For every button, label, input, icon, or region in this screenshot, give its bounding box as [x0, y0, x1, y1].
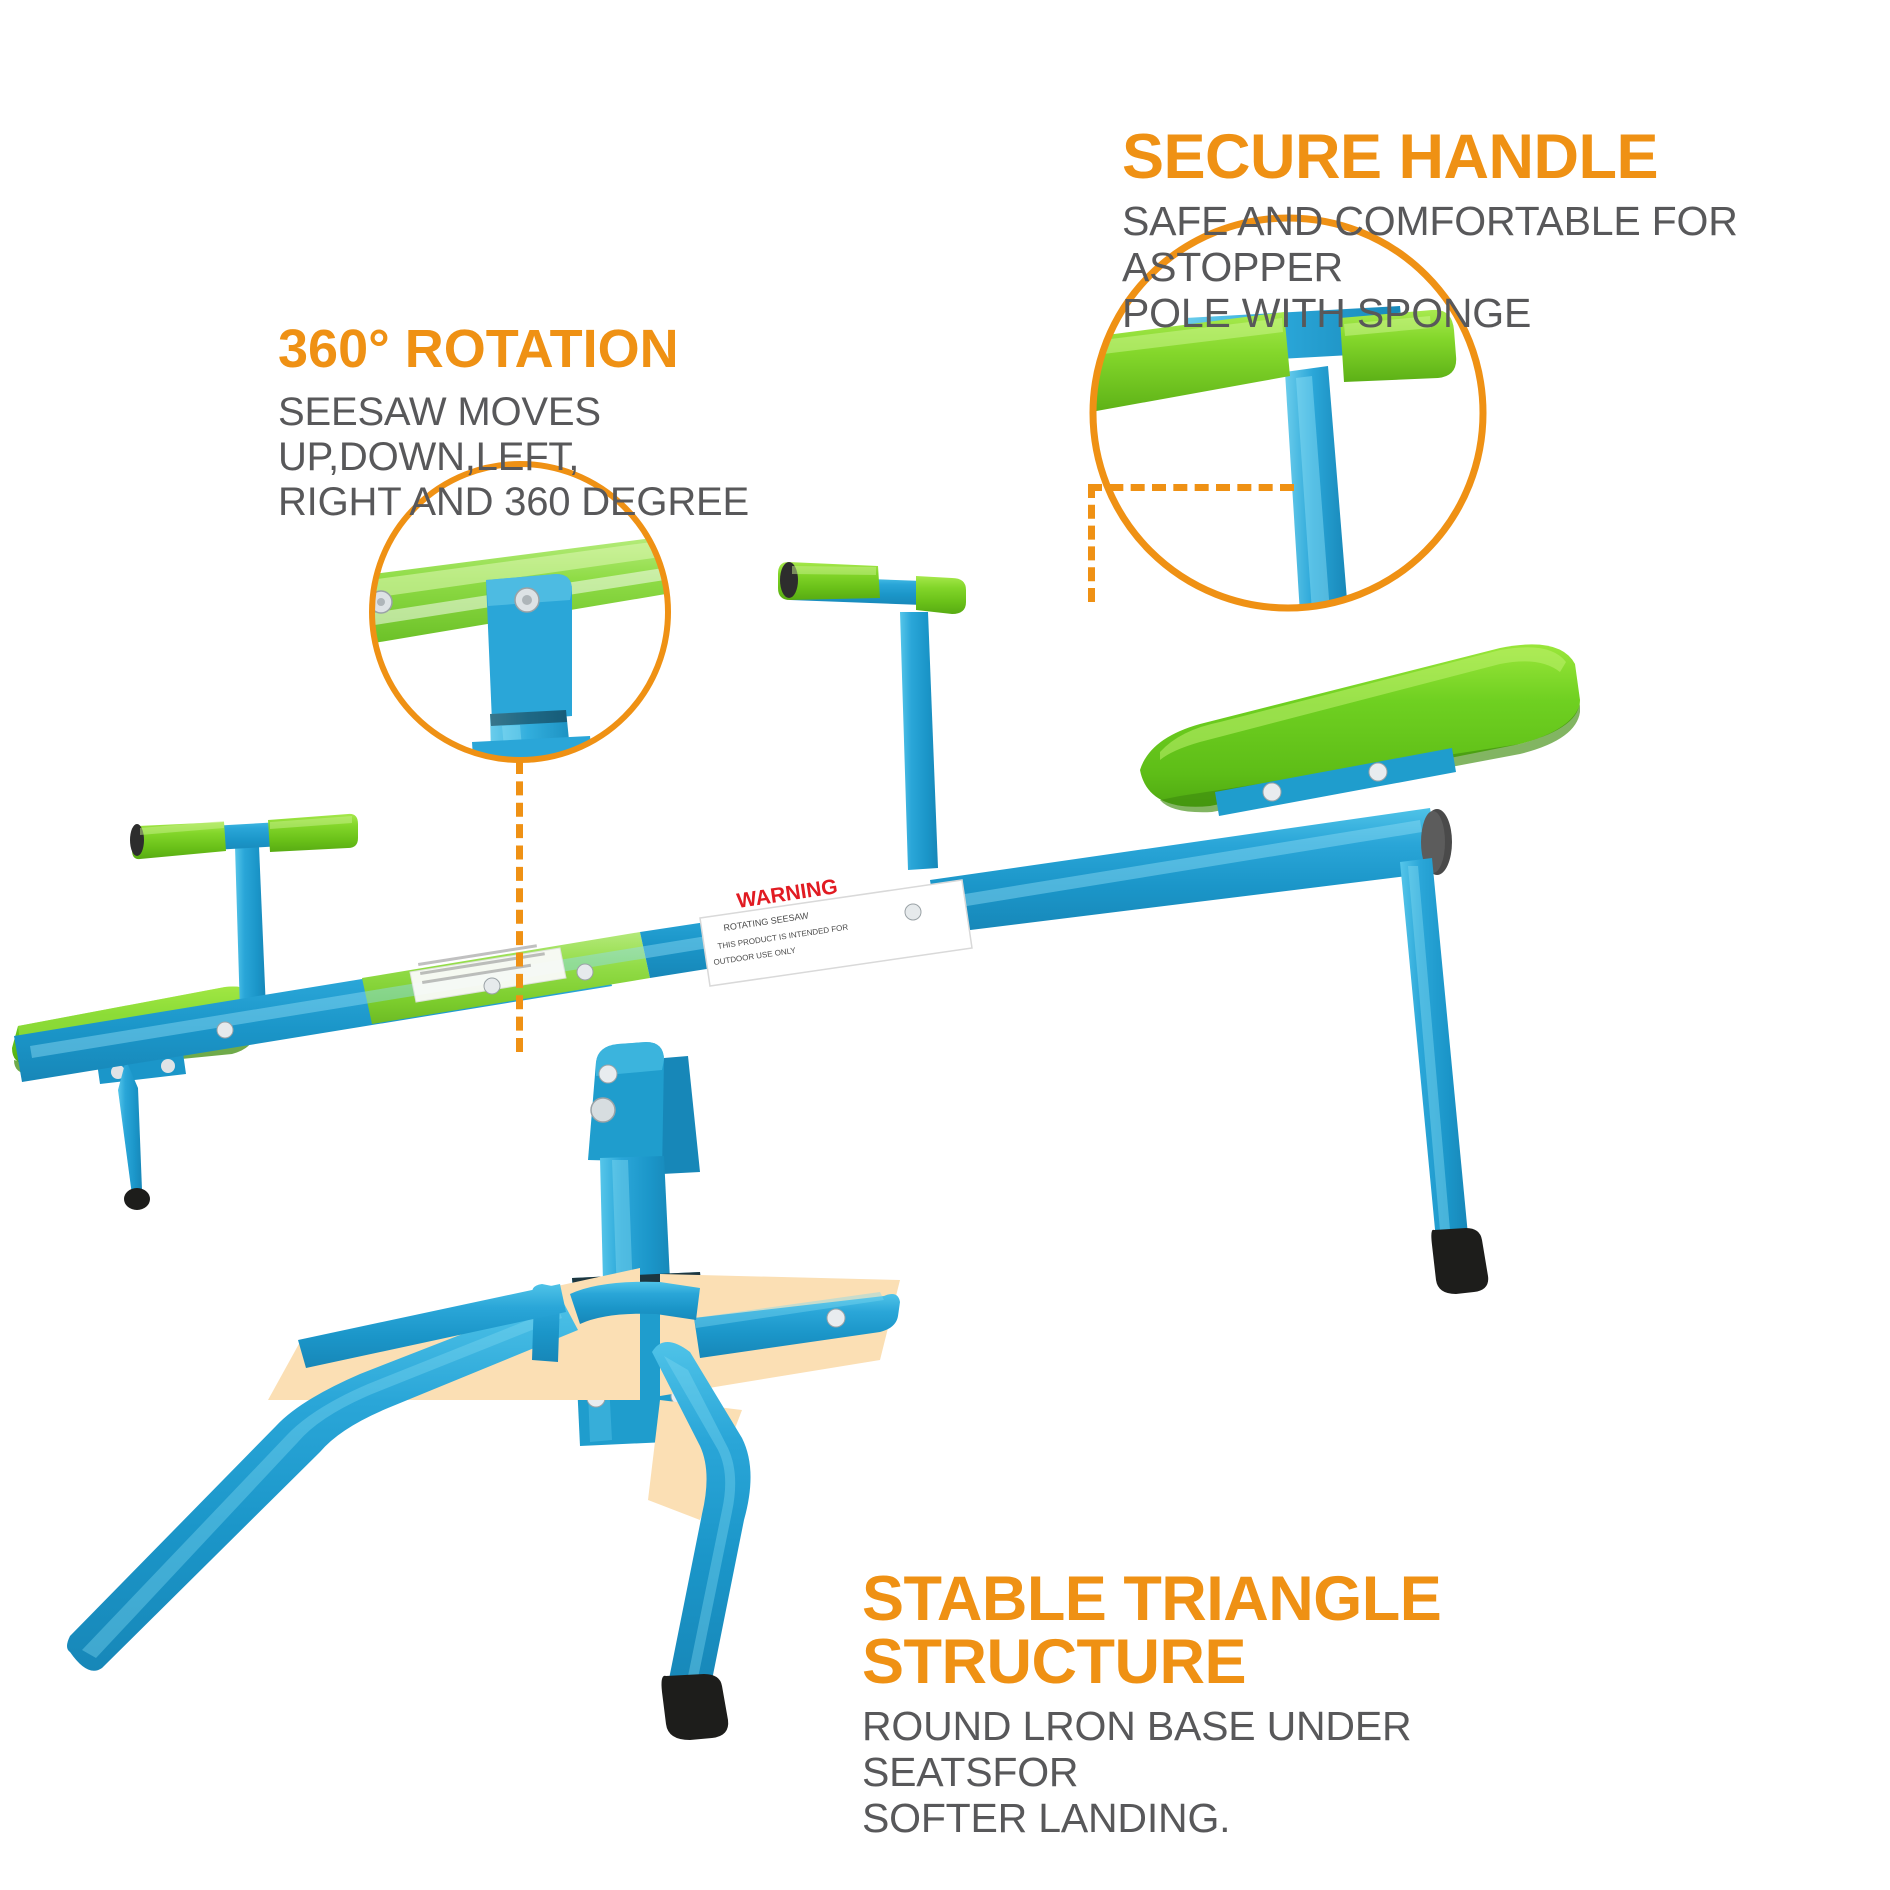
- callout-secure-handle: SECURE HANDLE SAFE AND COMFORTABLE FOR A…: [1122, 126, 1890, 337]
- secure-handle-body: SAFE AND COMFORTABLE FOR ASTOPPER POLE W…: [1122, 199, 1890, 337]
- callout-rotation: 360° ROTATION SEESAW MOVES UP,DOWN,LEFT,…: [278, 322, 898, 524]
- stable-triangle-title: STABLE TRIANGLE STRUCTURE: [862, 1568, 1562, 1694]
- rotation-title: 360° ROTATION: [278, 322, 898, 376]
- rotation-body: SEESAW MOVES UP,DOWN,LEFT, RIGHT AND 360…: [278, 390, 898, 524]
- stable-triangle-body: ROUND LRON BASE UNDER SEATSFOR SOFTER LA…: [862, 1704, 1562, 1842]
- handle-leader-vertical: [1088, 484, 1095, 602]
- rotation-leader-vertical: [516, 760, 523, 1052]
- secure-handle-title: SECURE HANDLE: [1122, 126, 1890, 189]
- handle-leader-horizontal: [1088, 484, 1294, 491]
- product-infographic: WARNING ROTATING SEESAW THIS PRODUCT IS …: [0, 0, 1890, 1890]
- callout-stable-triangle: STABLE TRIANGLE STRUCTURE ROUND LRON BAS…: [862, 1568, 1562, 1842]
